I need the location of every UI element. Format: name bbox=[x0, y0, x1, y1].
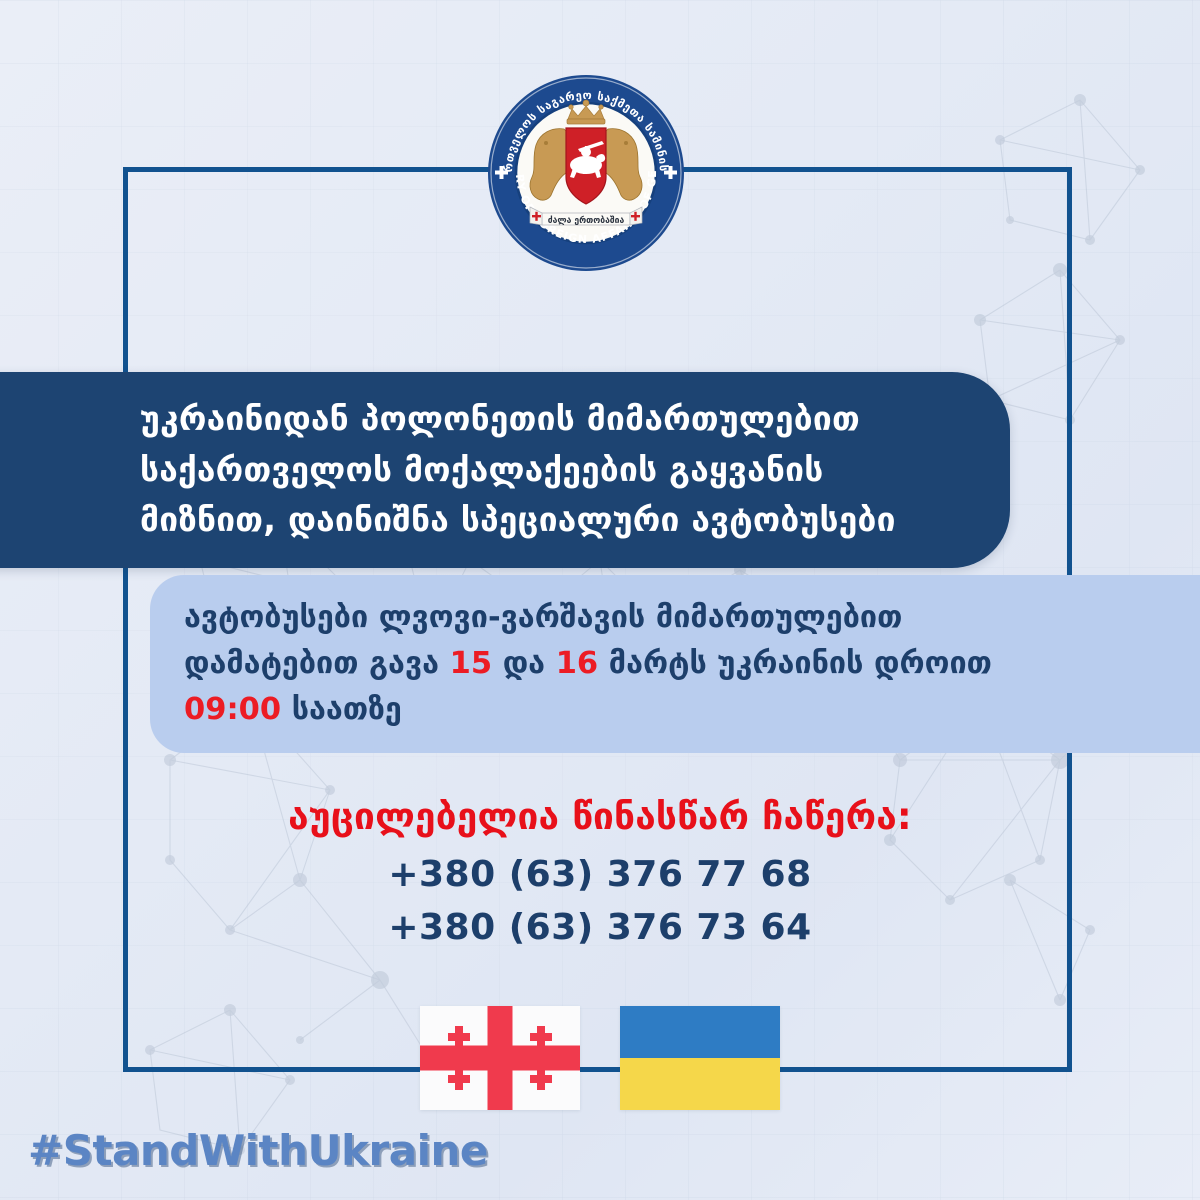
info-date-2: 16 bbox=[556, 646, 598, 681]
headline-banner: უკრაინიდან პოლონეთის მიმართულებით საქართ… bbox=[0, 372, 1010, 568]
headline-text: უკრაინიდან პოლონეთის მიმართულებით საქართ… bbox=[140, 394, 950, 547]
flags-row bbox=[0, 1006, 1200, 1110]
flag-georgia-icon bbox=[420, 1006, 580, 1110]
info-date-1: 15 bbox=[450, 646, 492, 681]
svg-text:ძალა ერთობაშია: ძალა ერთობაშია bbox=[548, 215, 625, 226]
call-to-action-block: აუცილებელია წინასწარ ჩაწერა: +380 (63) 3… bbox=[0, 795, 1200, 948]
poster-canvas: საქართველოს საგარეო საქმეთა სამინისტრო M… bbox=[0, 0, 1200, 1200]
flag-ukraine-icon bbox=[620, 1006, 780, 1110]
ministry-emblem: საქართველოს საგარეო საქმეთა სამინისტრო M… bbox=[486, 73, 686, 273]
hashtag-stand-with-ukraine: #StandWithUkraine bbox=[28, 1126, 488, 1175]
info-tail-text: საათზე bbox=[281, 692, 402, 727]
info-banner: ავტობუსები ლვოვი-ვარშავის მიმართულებით დ… bbox=[150, 575, 1200, 753]
info-conjunction: და bbox=[492, 646, 556, 681]
georgia-cross-bottom-left bbox=[442, 1062, 476, 1096]
georgia-cross-top-right bbox=[524, 1020, 558, 1054]
info-text: ავტობუსები ლვოვი-ვარშავის მიმართულებით დ… bbox=[184, 595, 1064, 732]
georgia-cross-top-left bbox=[442, 1020, 476, 1054]
info-departure-time: 09:00 bbox=[184, 692, 281, 727]
cta-title: აუცილებელია წინასწარ ჩაწერა: bbox=[0, 795, 1200, 838]
phone-number-1[interactable]: +380 (63) 376 77 68 bbox=[0, 854, 1200, 895]
phone-number-2[interactable]: +380 (63) 376 73 64 bbox=[0, 907, 1200, 948]
georgia-cross-bottom-right bbox=[524, 1062, 558, 1096]
info-mid-text: მარტს უკრაინის დროით bbox=[598, 646, 992, 681]
